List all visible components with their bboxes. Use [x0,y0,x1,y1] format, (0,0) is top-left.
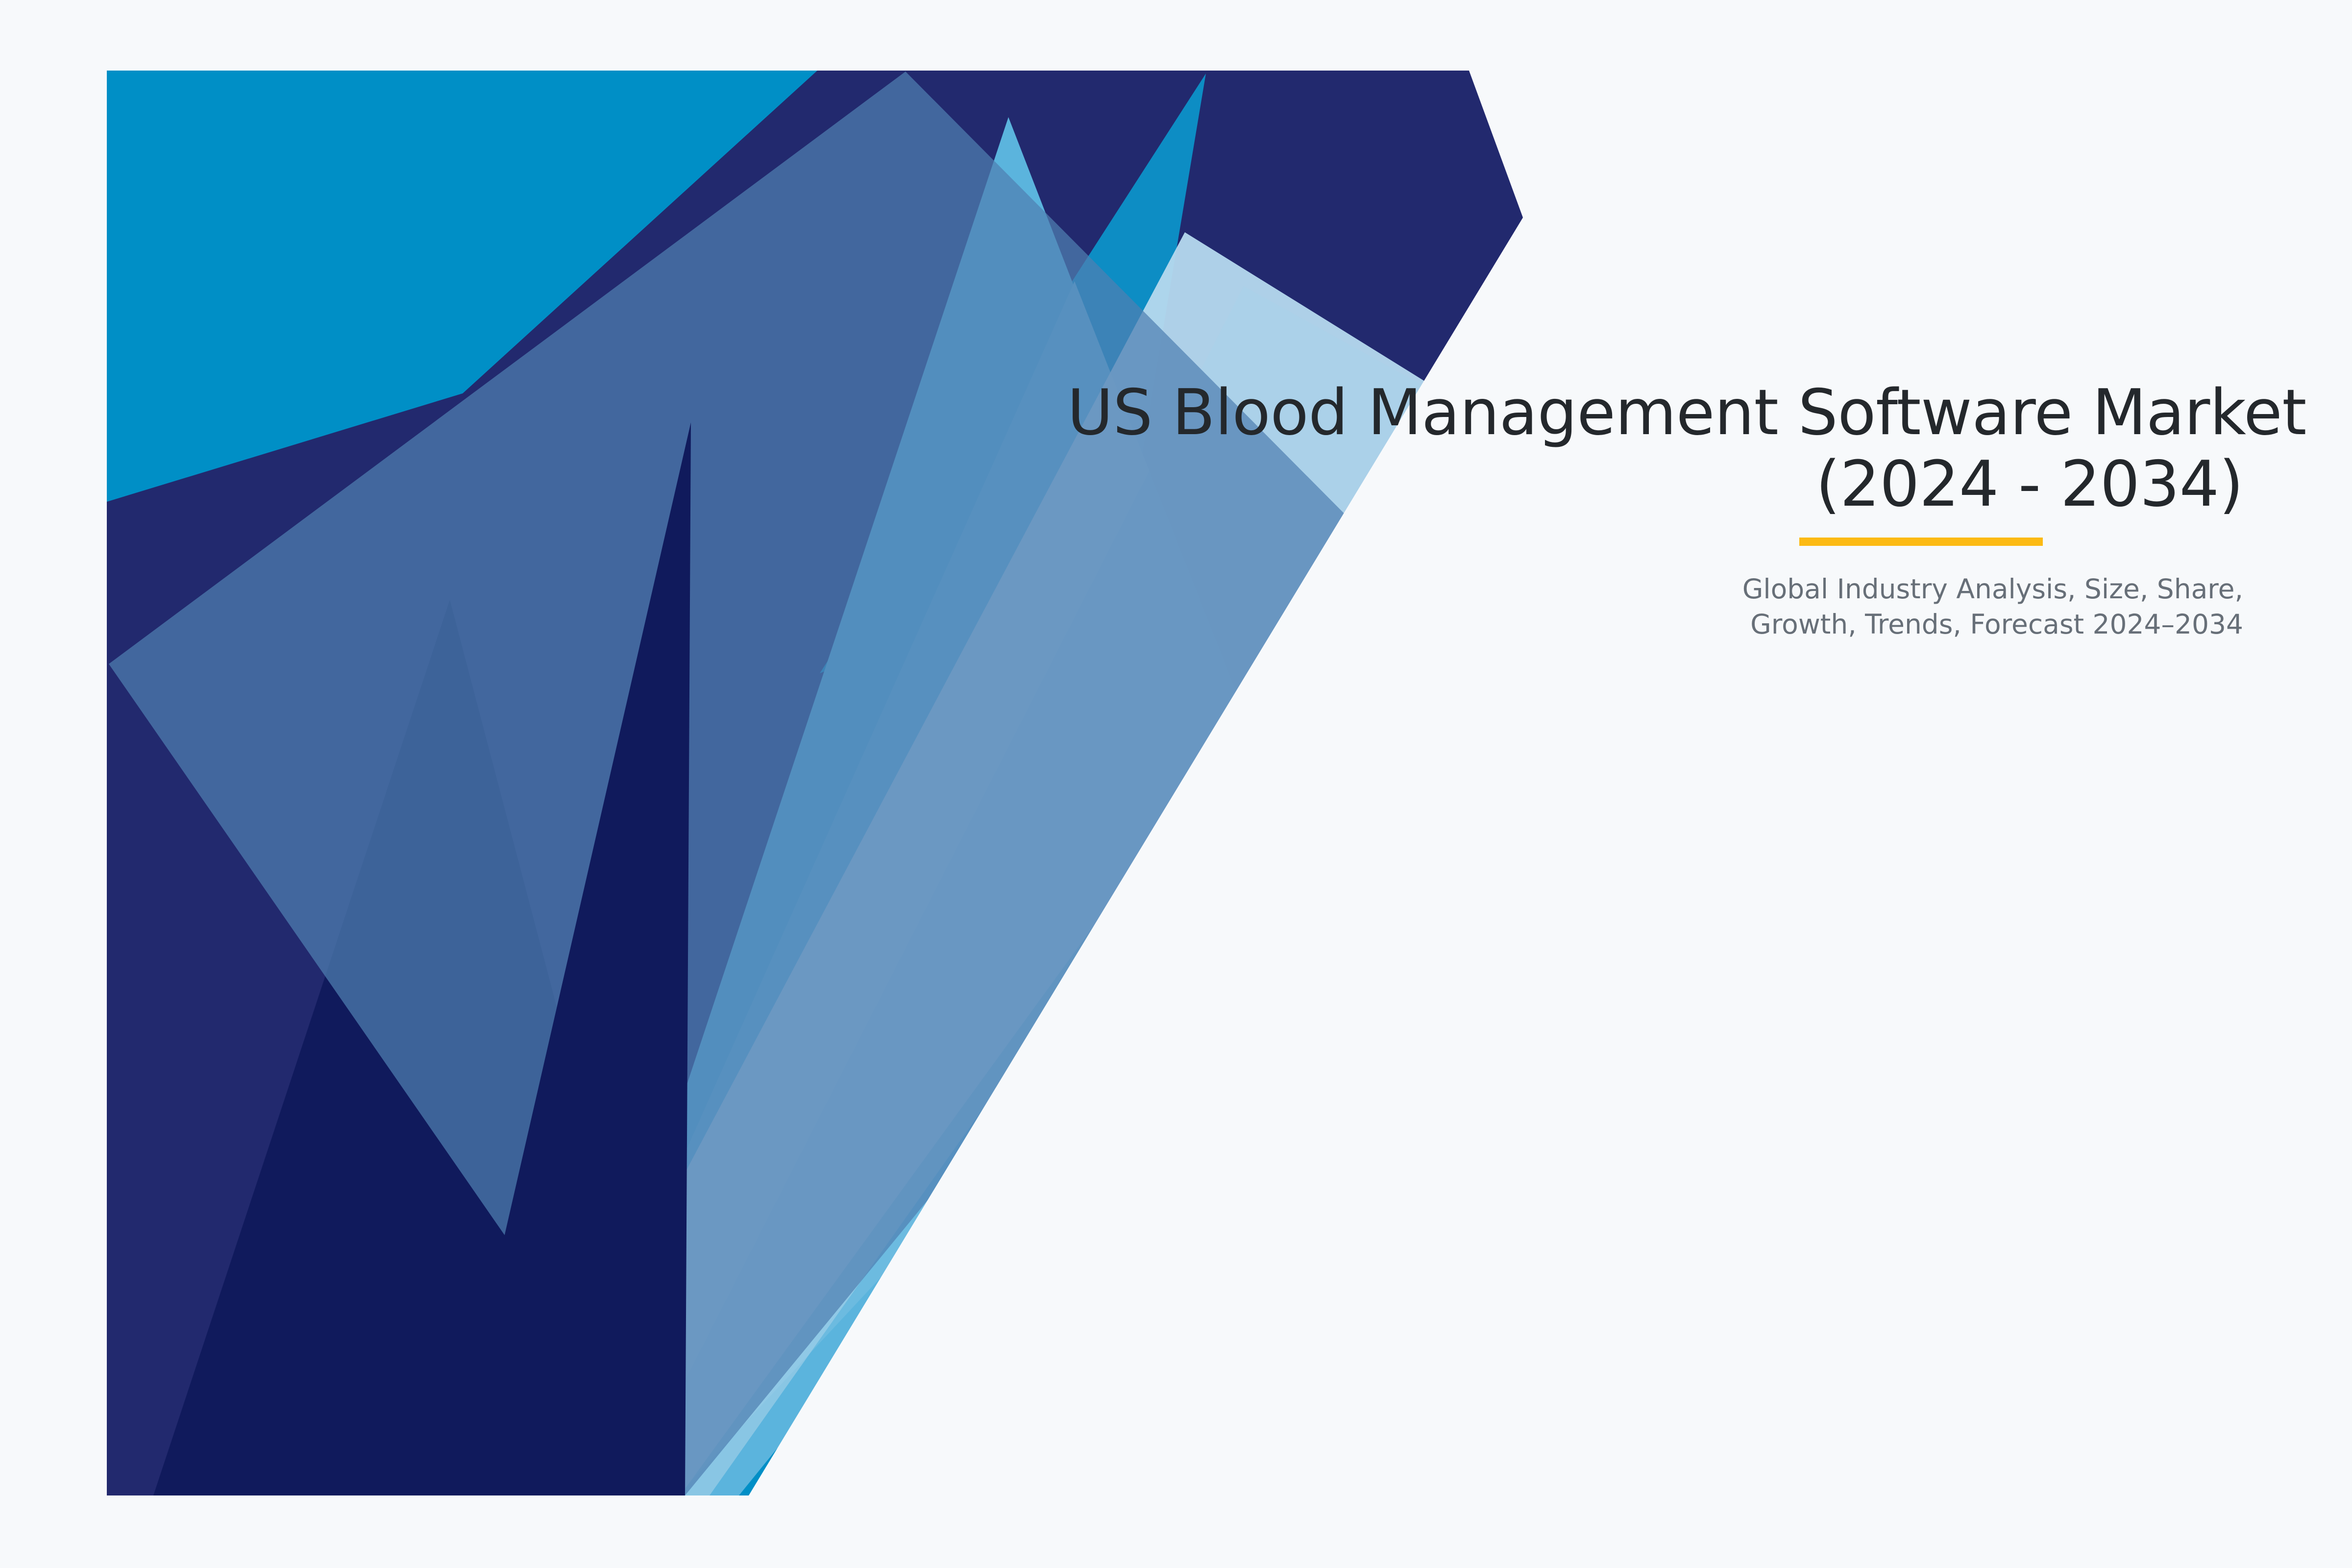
artwork-svg [107,71,1523,1495]
subtitle-line-2: Growth, Trends, Forecast 2024–2034 [1067,607,2243,642]
accent-underline [1799,538,2043,546]
title-line-1: US Blood Management Software Market [1067,377,2243,449]
title-line-1-text: US Blood Management Software Market [1067,376,2306,449]
page-title: US Blood Management Software Market (202… [1067,377,2243,520]
subtitle-line-1: Global Industry Analysis, Size, Share, [1067,571,2243,607]
title-line-2: (2024 - 2034) [1067,449,2243,520]
page-subtitle: Global Industry Analysis, Size, Share, G… [1067,571,2243,642]
abstract-geometric-artwork [107,71,1523,1495]
title-block: US Blood Management Software Market (202… [1067,377,2243,642]
title-line-2-text: (2024 - 2034) [1816,448,2243,521]
slide-canvas: US Blood Management Software Market (202… [0,0,2352,1568]
